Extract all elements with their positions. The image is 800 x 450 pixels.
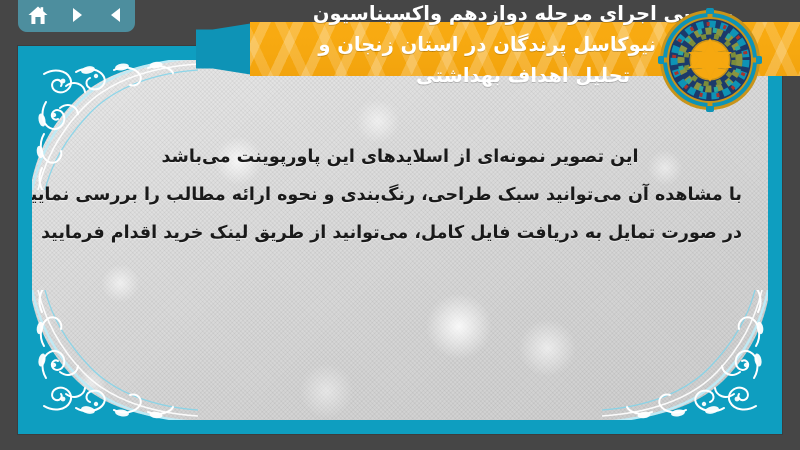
slide-content-area: این تصویر نمونه‌ای از اسلایدهای این پاور…	[32, 60, 768, 420]
forward-button[interactable]	[63, 3, 91, 27]
home-icon	[27, 5, 49, 26]
body-line-1: این تصویر نمونه‌ای از اسلایدهای این پاور…	[58, 138, 742, 176]
body-line-3: در صورت تمایل به دریافت فایل کامل، می‌تو…	[58, 214, 742, 252]
home-button[interactable]	[24, 3, 52, 27]
forward-triangle-icon	[67, 5, 87, 25]
arabesque-corner-icon-bottom-left	[32, 290, 198, 420]
back-triangle-icon	[106, 5, 126, 25]
slide-preview-root: این تصویر نمونه‌ای از اسلایدهای این پاور…	[0, 0, 800, 450]
persian-medallion-icon	[658, 8, 762, 112]
slide-body-text: این تصویر نمونه‌ای از اسلایدهای این پاور…	[32, 138, 768, 252]
arabesque-corner-icon-bottom-right	[602, 290, 768, 420]
back-button[interactable]	[102, 3, 130, 27]
navigation-toolbar	[18, 0, 135, 32]
body-line-2: با مشاهده آن می‌توانید سبک طراحی، رنگ‌بن…	[58, 176, 742, 214]
